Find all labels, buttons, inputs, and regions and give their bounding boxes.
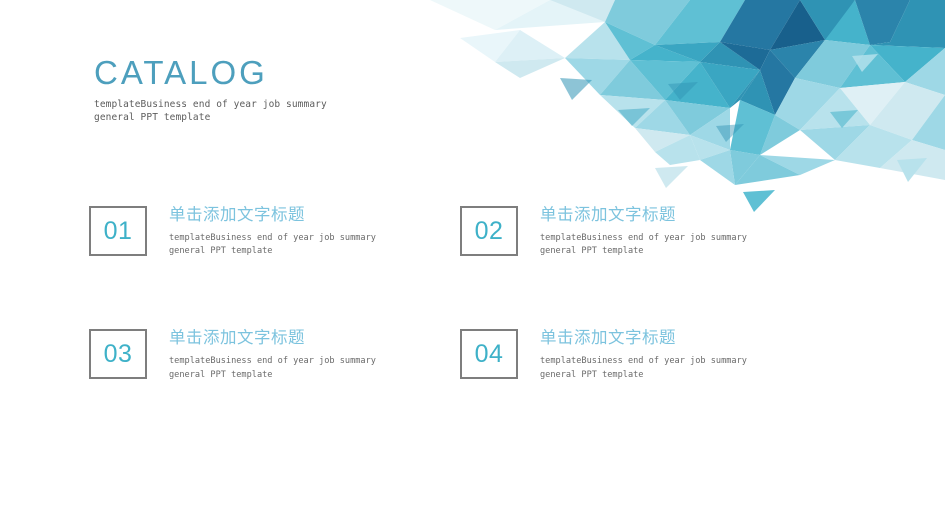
catalog-text-04: 单击添加文字标题 templateBusiness end of year jo… [540,329,747,381]
catalog-text-03: 单击添加文字标题 templateBusiness end of year jo… [169,329,376,381]
catalog-desc-03-line-1: templateBusiness end of year job summary [169,355,376,368]
catalog-title-04: 单击添加文字标题 [540,329,747,349]
low-poly-decoration [400,0,945,215]
catalog-row: 03 单击添加文字标题 templateBusiness end of year… [89,329,889,381]
page-title: CATALOG [94,56,424,91]
heading-block: CATALOG templateBusiness end of year job… [94,56,424,125]
low-poly-triangles-icon [400,0,945,215]
catalog-item-02[interactable]: 02 单击添加文字标题 templateBusiness end of year… [460,206,831,258]
catalog-number-02: 02 [475,219,504,244]
catalog-number-box-04: 04 [460,329,518,379]
catalog-desc-03: templateBusiness end of year job summary… [169,355,376,382]
catalog-desc-04-line-2: general PPT template [540,369,747,382]
page-subtitle-line-2: general PPT template [94,111,424,125]
catalog-desc-01-line-1: templateBusiness end of year job summary [169,232,376,245]
catalog-desc-03-line-2: general PPT template [169,369,376,382]
catalog-item-03[interactable]: 03 单击添加文字标题 templateBusiness end of year… [89,329,460,381]
catalog-grid: 01 单击添加文字标题 templateBusiness end of year… [89,206,889,382]
catalog-text-02: 单击添加文字标题 templateBusiness end of year jo… [540,206,747,258]
catalog-text-01: 单击添加文字标题 templateBusiness end of year jo… [169,206,376,258]
catalog-title-02: 单击添加文字标题 [540,206,747,226]
page-subtitle: templateBusiness end of year job summary… [94,98,424,126]
catalog-number-03: 03 [104,342,133,367]
catalog-desc-01-line-2: general PPT template [169,245,376,258]
slide-canvas: CATALOG templateBusiness end of year job… [0,0,945,529]
catalog-desc-01: templateBusiness end of year job summary… [169,232,376,259]
catalog-number-box-03: 03 [89,329,147,379]
catalog-desc-04-line-1: templateBusiness end of year job summary [540,355,747,368]
catalog-title-03: 单击添加文字标题 [169,329,376,349]
catalog-row: 01 单击添加文字标题 templateBusiness end of year… [89,206,889,258]
catalog-desc-02-line-1: templateBusiness end of year job summary [540,232,747,245]
catalog-title-01: 单击添加文字标题 [169,206,376,226]
page-subtitle-line-1: templateBusiness end of year job summary [94,98,424,112]
catalog-number-01: 01 [104,219,133,244]
catalog-number-04: 04 [475,342,504,367]
catalog-number-box-01: 01 [89,206,147,256]
catalog-desc-04: templateBusiness end of year job summary… [540,355,747,382]
catalog-number-box-02: 02 [460,206,518,256]
catalog-item-01[interactable]: 01 单击添加文字标题 templateBusiness end of year… [89,206,460,258]
catalog-item-04[interactable]: 04 单击添加文字标题 templateBusiness end of year… [460,329,831,381]
catalog-desc-02: templateBusiness end of year job summary… [540,232,747,259]
catalog-desc-02-line-2: general PPT template [540,245,747,258]
